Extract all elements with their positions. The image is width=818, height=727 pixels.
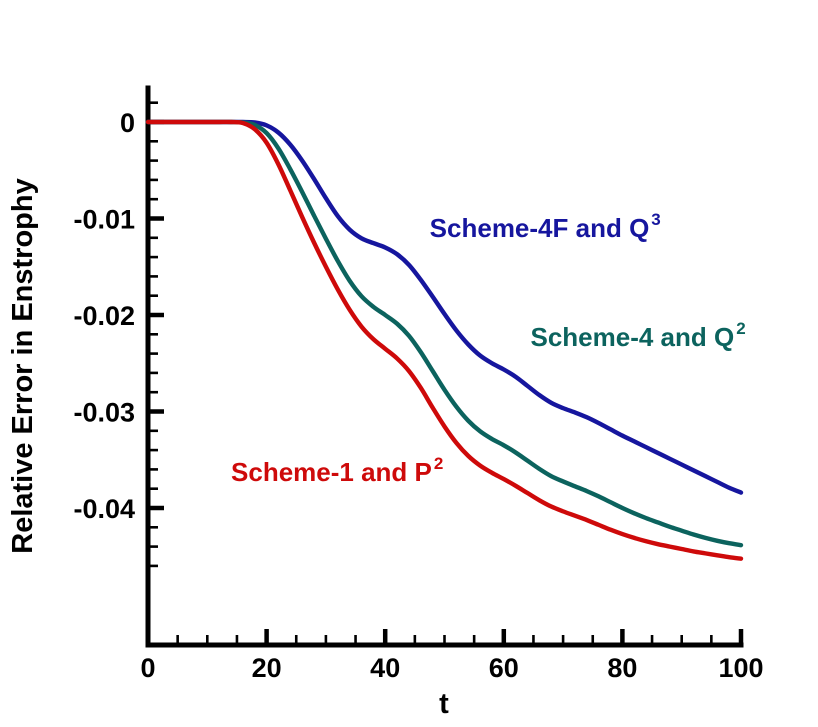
annotation-label-3: Scheme-1 and P2 xyxy=(231,454,443,487)
x-tick-label: 40 xyxy=(370,653,400,683)
tick-labels: 0-0.01-0.02-0.03-0.04020406080100 xyxy=(73,108,763,683)
annotation-superscript: 2 xyxy=(434,454,443,473)
y-tick-label: -0.04 xyxy=(73,494,135,524)
y-tick-label: 0 xyxy=(120,108,135,138)
annotation-label-1: Scheme-4F and Q3 xyxy=(430,210,661,243)
x-tick-label: 60 xyxy=(489,653,519,683)
series-annotations: Scheme-4F and Q3Scheme-4 and Q2Scheme-1 … xyxy=(231,210,746,487)
y-axis-title: Relative Error in Enstrophy xyxy=(7,178,39,554)
annotation-superscript: 2 xyxy=(736,319,745,338)
y-tick-label: -0.03 xyxy=(73,398,135,428)
annotation-label-2: Scheme-4 and Q2 xyxy=(530,319,745,352)
x-tick-label: 20 xyxy=(252,653,282,683)
x-axis-title: t xyxy=(439,688,449,720)
chart-figure: 0-0.01-0.02-0.03-0.04020406080100 Scheme… xyxy=(0,0,818,727)
annotation-superscript: 3 xyxy=(651,210,660,229)
x-tick-label: 80 xyxy=(607,653,637,683)
y-tick-label: -0.01 xyxy=(73,205,135,235)
annotation-text: Scheme-1 and P xyxy=(231,457,432,487)
plot-canvas: 0-0.01-0.02-0.03-0.04020406080100 Scheme… xyxy=(0,0,818,727)
x-tick-label: 0 xyxy=(140,653,155,683)
y-tick-label: -0.02 xyxy=(73,301,135,331)
x-tick-label: 100 xyxy=(718,653,763,683)
annotation-text: Scheme-4 and Q xyxy=(530,322,734,352)
axes xyxy=(148,88,741,645)
series-line-1 xyxy=(148,122,741,493)
annotation-text: Scheme-4F and Q xyxy=(430,213,650,243)
